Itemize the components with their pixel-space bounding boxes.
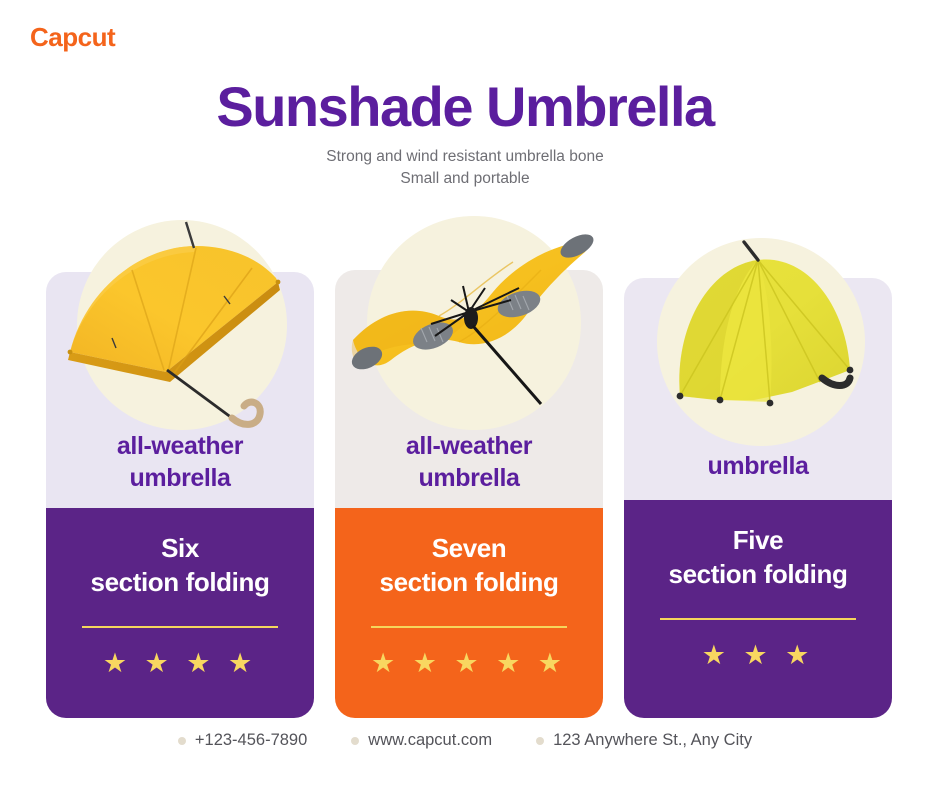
footer-contact-bar: +123-456-7890 www.capcut.com 123 Anywher… (0, 731, 930, 750)
yellow-classic-umbrella-photo (46, 212, 314, 442)
rating-stars: ★ ★ ★ ★ ★ (335, 650, 603, 677)
folding-type-label: Five section folding (624, 524, 892, 592)
card-photo-area: umbrella (624, 278, 892, 500)
contact-website-text: www.capcut.com (368, 731, 492, 750)
card-photo-area: all-weather umbrella (46, 272, 314, 508)
bullet-dot-icon (178, 737, 186, 745)
card-detail-area: Six section folding ★ ★ ★ ★ (46, 508, 314, 718)
contact-website[interactable]: www.capcut.com (351, 731, 492, 750)
product-card-seven-section[interactable]: all-weather umbrella Seven section foldi… (335, 270, 603, 718)
divider (82, 626, 278, 628)
card-detail-area: Seven section folding ★ ★ ★ ★ ★ (335, 508, 603, 718)
bullet-dot-icon (536, 737, 544, 745)
product-card-six-section[interactable]: all-weather umbrella Six section folding… (46, 272, 314, 718)
contact-address[interactable]: 123 Anywhere St., Any City (536, 731, 752, 750)
rating-stars: ★ ★ ★ (624, 642, 892, 669)
contact-address-text: 123 Anywhere St., Any City (553, 731, 752, 750)
card-label: all-weather umbrella (46, 430, 314, 494)
card-photo-area: all-weather umbrella (335, 270, 603, 508)
yellow-wind-resistant-umbrella-photo (335, 208, 603, 440)
bullet-dot-icon (351, 737, 359, 745)
product-card-list: all-weather umbrella Six section folding… (0, 0, 930, 788)
contact-phone-text: +123-456-7890 (195, 731, 307, 750)
folding-type-label: Six section folding (46, 532, 314, 600)
contact-phone[interactable]: +123-456-7890 (178, 731, 307, 750)
card-detail-area: Five section folding ★ ★ ★ (624, 500, 892, 718)
card-label: umbrella (624, 450, 892, 482)
yellow-dome-umbrella-photo (624, 230, 892, 448)
divider (371, 626, 567, 628)
card-label: all-weather umbrella (335, 430, 603, 494)
rating-stars: ★ ★ ★ ★ (46, 650, 314, 677)
product-card-five-section[interactable]: umbrella Five section folding ★ ★ ★ (624, 278, 892, 718)
folding-type-label: Seven section folding (335, 532, 603, 600)
divider (660, 618, 856, 620)
